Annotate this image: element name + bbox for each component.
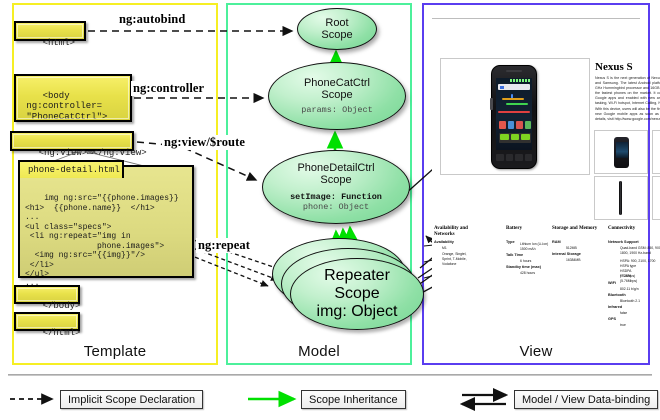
thumbnail-side[interactable] xyxy=(594,176,648,220)
phone-side-button xyxy=(490,98,493,110)
scope-phonedetailctrl-line1: PhoneDetailCtrl xyxy=(297,162,374,174)
wallpaper-line-green xyxy=(506,103,528,105)
spec-cell-availability-v1: M1 xyxy=(442,246,480,251)
scope-repeater-line2: Scope xyxy=(334,285,379,303)
rendered-page: Nexus S Nexus S is the next generation o… xyxy=(432,18,640,338)
spec-label: Bluetooth xyxy=(608,293,626,297)
code-ngview-tag-text: <ng:view>▭</ng:view> xyxy=(39,148,147,158)
spec-label: Standby time (max) xyxy=(506,265,541,269)
scope-repeater-prop: img: Object xyxy=(317,303,398,321)
spec-label: Infrared xyxy=(608,305,622,309)
hardware-key xyxy=(515,154,523,161)
spec-cell-network-v4: HSUPA (5.76Mbps) xyxy=(620,274,640,284)
spec-cell-network-label: Network Support xyxy=(608,240,639,246)
scope-root-line2: Scope xyxy=(321,29,352,41)
code-body-close-text: </body> xyxy=(43,301,81,311)
code-html-tag-text: <html> xyxy=(43,38,75,48)
hero-image-frame[interactable] xyxy=(440,58,590,175)
thumbnail-angled[interactable] xyxy=(652,176,660,220)
spec-cell-ram-label: RAM xyxy=(552,240,561,246)
spec-header-battery: Battery xyxy=(506,226,522,232)
spec-cell-battery-talk-label: Talk Time xyxy=(506,253,523,259)
bevel xyxy=(17,288,77,301)
spec-cell-bluetooth-v1: Bluetooth 2.1 xyxy=(620,299,640,304)
bevel xyxy=(17,315,77,328)
spec-cell-availability-label: Availability xyxy=(434,240,474,246)
spec-label: GPS xyxy=(608,317,616,321)
panel-label-model: Model xyxy=(228,343,410,360)
code-body-tag[interactable]: <body ng:controller= "PhoneCatCtrl"> xyxy=(14,74,132,122)
hardware-key xyxy=(496,154,504,161)
app-icon xyxy=(525,121,532,129)
spec-label: Availability xyxy=(434,240,454,244)
spec-cell-network-v2: HSPA: 900, 2100, 1700 HSPA type xyxy=(620,259,660,269)
legend-label-implicit-scope-declaration: Implicit Scope Declaration xyxy=(60,390,203,409)
spec-cell-battery-talk-v1: 6 hours xyxy=(520,259,531,264)
spec-cell-infrared-v1: false xyxy=(620,311,627,316)
code-body-close-tag[interactable]: </body> xyxy=(14,285,80,304)
phone-hero-image xyxy=(491,65,537,169)
spec-cell-battery-type-v2: 1500 mAh xyxy=(520,247,535,252)
scope-root[interactable]: Root Scope xyxy=(297,8,377,50)
scope-phonecatctrl-line2: Scope xyxy=(321,89,352,101)
code-body-tag-text: <body ng:controller= "PhoneCatCtrl"> xyxy=(21,91,107,122)
label-ng-autobind: ng:autobind xyxy=(117,12,187,27)
phone-speaker xyxy=(506,70,522,72)
spec-cell-wifi-label: WiFi xyxy=(608,281,616,287)
scope-phonedetailctrl-line2: Scope xyxy=(320,174,351,186)
spec-cell-wifi-v1: 802.11 b/g/n xyxy=(620,287,639,292)
dock-icon xyxy=(500,134,509,140)
scope-phonecatctrl-prop: params: Object xyxy=(301,105,372,115)
hardware-key xyxy=(525,154,533,161)
spec-header-connectivity: Connectivity xyxy=(608,226,635,232)
phone-screen xyxy=(496,78,532,150)
scope-phonedetailctrl-prop2: phone: Object xyxy=(303,202,369,212)
diagram-canvas: Template Model View xyxy=(0,0,660,420)
label-ng-view-route: ng:view/$route xyxy=(162,135,247,150)
thumbnail-front[interactable] xyxy=(594,130,648,174)
thumb-phone-front xyxy=(614,137,629,168)
wallpaper-line-red xyxy=(498,111,530,113)
label-ng-controller: ng:controller xyxy=(131,81,206,96)
app-icon xyxy=(508,121,515,129)
scope-repeater[interactable]: Repeater Scope img: Object xyxy=(290,258,424,330)
spec-cell-availability-v2: Orange, Singtel, Sprint, T-Mobile, Vodaf… xyxy=(442,252,468,267)
status-bar xyxy=(510,79,530,82)
search-widget xyxy=(498,84,530,90)
spec-cell-network-v1: Quad-band GSM: 850, 900, 1800, 1900 Hz-b… xyxy=(620,246,660,256)
spec-label: Type xyxy=(506,240,515,244)
code-partial-body[interactable]: img ng:src="{{phone.images}} <h1> {{phon… xyxy=(18,165,194,278)
page-top-rule xyxy=(432,18,640,19)
dock-icon xyxy=(521,134,530,140)
dock-icon xyxy=(511,134,520,140)
code-partial-body-text: img ng:src="{{phone.images}} <h1> {{phon… xyxy=(25,194,179,288)
code-html-close-text: </html> xyxy=(43,328,81,338)
thumbnail-back[interactable] xyxy=(652,130,660,174)
panel-label-view: View xyxy=(424,343,648,360)
scope-root-line1: Root xyxy=(325,17,348,29)
spec-cell-battery-type-label: Type xyxy=(506,240,515,246)
thumb-phone-side xyxy=(619,181,622,215)
code-html-tag[interactable]: <html> xyxy=(14,21,86,41)
spec-cell-storage-v1: 16384MB xyxy=(566,258,581,263)
spec-cell-ram-v1: 512MB xyxy=(566,246,577,251)
code-ngview-tag[interactable]: <ng:view>▭</ng:view> xyxy=(10,131,134,151)
spec-cell-storage-label: Internal Storage xyxy=(552,252,581,258)
spec-cell-gps-v1: true xyxy=(620,323,626,328)
scope-phonecatctrl[interactable]: PhoneCatCtrl Scope params: Object xyxy=(268,62,406,130)
product-title: Nexus S xyxy=(595,61,633,73)
spec-header-storage: Storage and Memory xyxy=(552,226,598,232)
scope-phonecatctrl-line1: PhoneCatCtrl xyxy=(304,77,370,89)
spec-label: Network Support xyxy=(608,240,639,244)
scope-repeater-line1: Repeater xyxy=(324,267,390,285)
hardware-key xyxy=(506,154,514,161)
legend-divider xyxy=(8,374,652,376)
spec-label: WiFi xyxy=(608,281,616,285)
app-icon xyxy=(499,121,506,129)
phone-hardware-keys xyxy=(496,154,532,161)
spec-cell-bluetooth-label: Bluetooth xyxy=(608,293,626,299)
spec-cell-gps-label: GPS xyxy=(608,317,616,323)
panel-label-template: Template xyxy=(14,343,216,360)
product-description: Nexus S is the next generation of Nexus … xyxy=(595,76,660,122)
bevel xyxy=(17,24,83,38)
scope-phonedetailctrl-prop1: setImage: Function xyxy=(290,192,382,202)
legend-label-scope-inheritance: Scope Inheritance xyxy=(301,390,406,409)
spec-cell-infrared-label: Infrared xyxy=(608,305,622,311)
legend-label-model-view-data-binding: Model / View Data-binding xyxy=(514,390,658,409)
code-html-close-tag[interactable]: </html> xyxy=(14,312,80,331)
spec-label: RAM xyxy=(552,240,561,244)
scope-phonedetailctrl[interactable]: PhoneDetailCtrl Scope setImage: Function… xyxy=(262,150,410,224)
legend: Implicit Scope Declaration Scope Inherit… xyxy=(0,372,660,420)
app-icon xyxy=(516,121,523,129)
wallpaper-line-orange xyxy=(502,98,524,100)
spec-label: Internal Storage xyxy=(552,252,581,256)
spec-cell-battery-standby-label: Standby time (max) xyxy=(506,265,541,271)
label-ng-repeat: ng:repeat xyxy=(196,238,252,253)
spec-cell-battery-standby-v1: 428 hours xyxy=(520,271,535,276)
partial-filename-tab: phone-detail.html xyxy=(18,160,124,178)
spec-header-availability: Availability and Networks xyxy=(434,226,486,239)
partial-filename-text: phone-detail.html xyxy=(28,165,120,175)
app-icon-row xyxy=(499,121,531,130)
spec-label: Talk Time xyxy=(506,253,523,257)
phone-dock xyxy=(499,133,531,143)
bevel xyxy=(13,134,131,148)
